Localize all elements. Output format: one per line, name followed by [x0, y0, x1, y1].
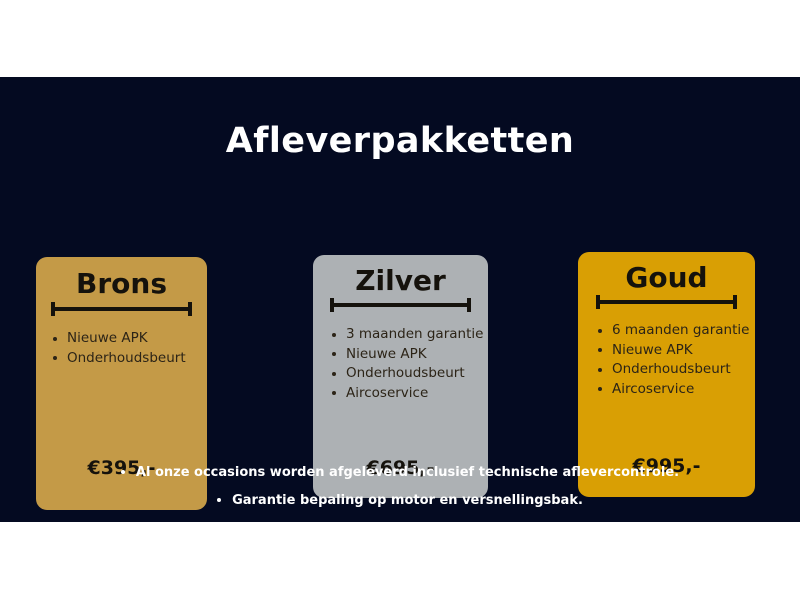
slide-body: Afleverpakketten Brons Nieuwe APK Onderh… — [0, 77, 800, 522]
package-title-brons: Brons — [36, 270, 207, 298]
feature-list-brons: Nieuwe APK Onderhoudsbeurt — [50, 329, 186, 368]
bullet-icon — [53, 337, 57, 341]
title-divider-icon — [330, 303, 471, 307]
title-divider-icon — [51, 307, 192, 311]
slide-canvas: Afleverpakketten Brons Nieuwe APK Onderh… — [0, 0, 800, 600]
feature-label: Aircoservice — [612, 381, 694, 397]
list-item: Nieuwe APK — [50, 329, 186, 349]
bullet-icon — [598, 329, 602, 333]
bullet-icon — [332, 391, 336, 395]
page-title: Afleverpakketten — [0, 124, 800, 159]
bullet-icon — [598, 348, 602, 352]
bullet-icon — [598, 387, 602, 391]
feature-label: Aircoservice — [346, 385, 428, 401]
footer-note: Al onze occasions worden afgeleverd incl… — [0, 459, 800, 487]
bullet-icon — [53, 356, 57, 360]
title-divider-icon — [596, 300, 737, 304]
bullet-icon — [121, 470, 125, 474]
feature-list-goud: 6 maanden garantie Nieuwe APK Onderhouds… — [595, 321, 749, 399]
feature-label: Onderhoudsbeurt — [346, 365, 465, 381]
bullet-icon — [332, 333, 336, 337]
list-item: 6 maanden garantie — [595, 321, 749, 341]
package-title-zilver: Zilver — [313, 267, 488, 295]
list-item: 3 maanden garantie — [329, 325, 483, 345]
feature-list-zilver: 3 maanden garantie Nieuwe APK Onderhouds… — [329, 325, 483, 403]
feature-label: Nieuwe APK — [346, 346, 427, 362]
footer-notes: Al onze occasions worden afgeleverd incl… — [0, 459, 800, 515]
bullet-icon — [217, 498, 221, 502]
list-item: Nieuwe APK — [595, 341, 749, 361]
bullet-icon — [598, 368, 602, 372]
footer-note: Garantie bepaling op motor en versnellin… — [0, 487, 800, 515]
list-item: Onderhoudsbeurt — [329, 364, 483, 384]
feature-label: 6 maanden garantie — [612, 322, 749, 338]
package-title-goud: Goud — [578, 264, 755, 292]
footer-note-label: Al onze occasions worden afgeleverd incl… — [136, 465, 679, 480]
list-item: Onderhoudsbeurt — [595, 360, 749, 380]
feature-label: Onderhoudsbeurt — [612, 361, 731, 377]
footer-note-label: Garantie bepaling op motor en versnellin… — [232, 493, 583, 508]
bullet-icon — [332, 372, 336, 376]
feature-label: Onderhoudsbeurt — [67, 350, 186, 366]
feature-label: 3 maanden garantie — [346, 326, 483, 342]
list-item: Aircoservice — [329, 384, 483, 404]
feature-label: Nieuwe APK — [612, 342, 693, 358]
list-item: Aircoservice — [595, 380, 749, 400]
list-item: Nieuwe APK — [329, 345, 483, 365]
bullet-icon — [332, 352, 336, 356]
list-item: Onderhoudsbeurt — [50, 349, 186, 369]
feature-label: Nieuwe APK — [67, 330, 148, 346]
